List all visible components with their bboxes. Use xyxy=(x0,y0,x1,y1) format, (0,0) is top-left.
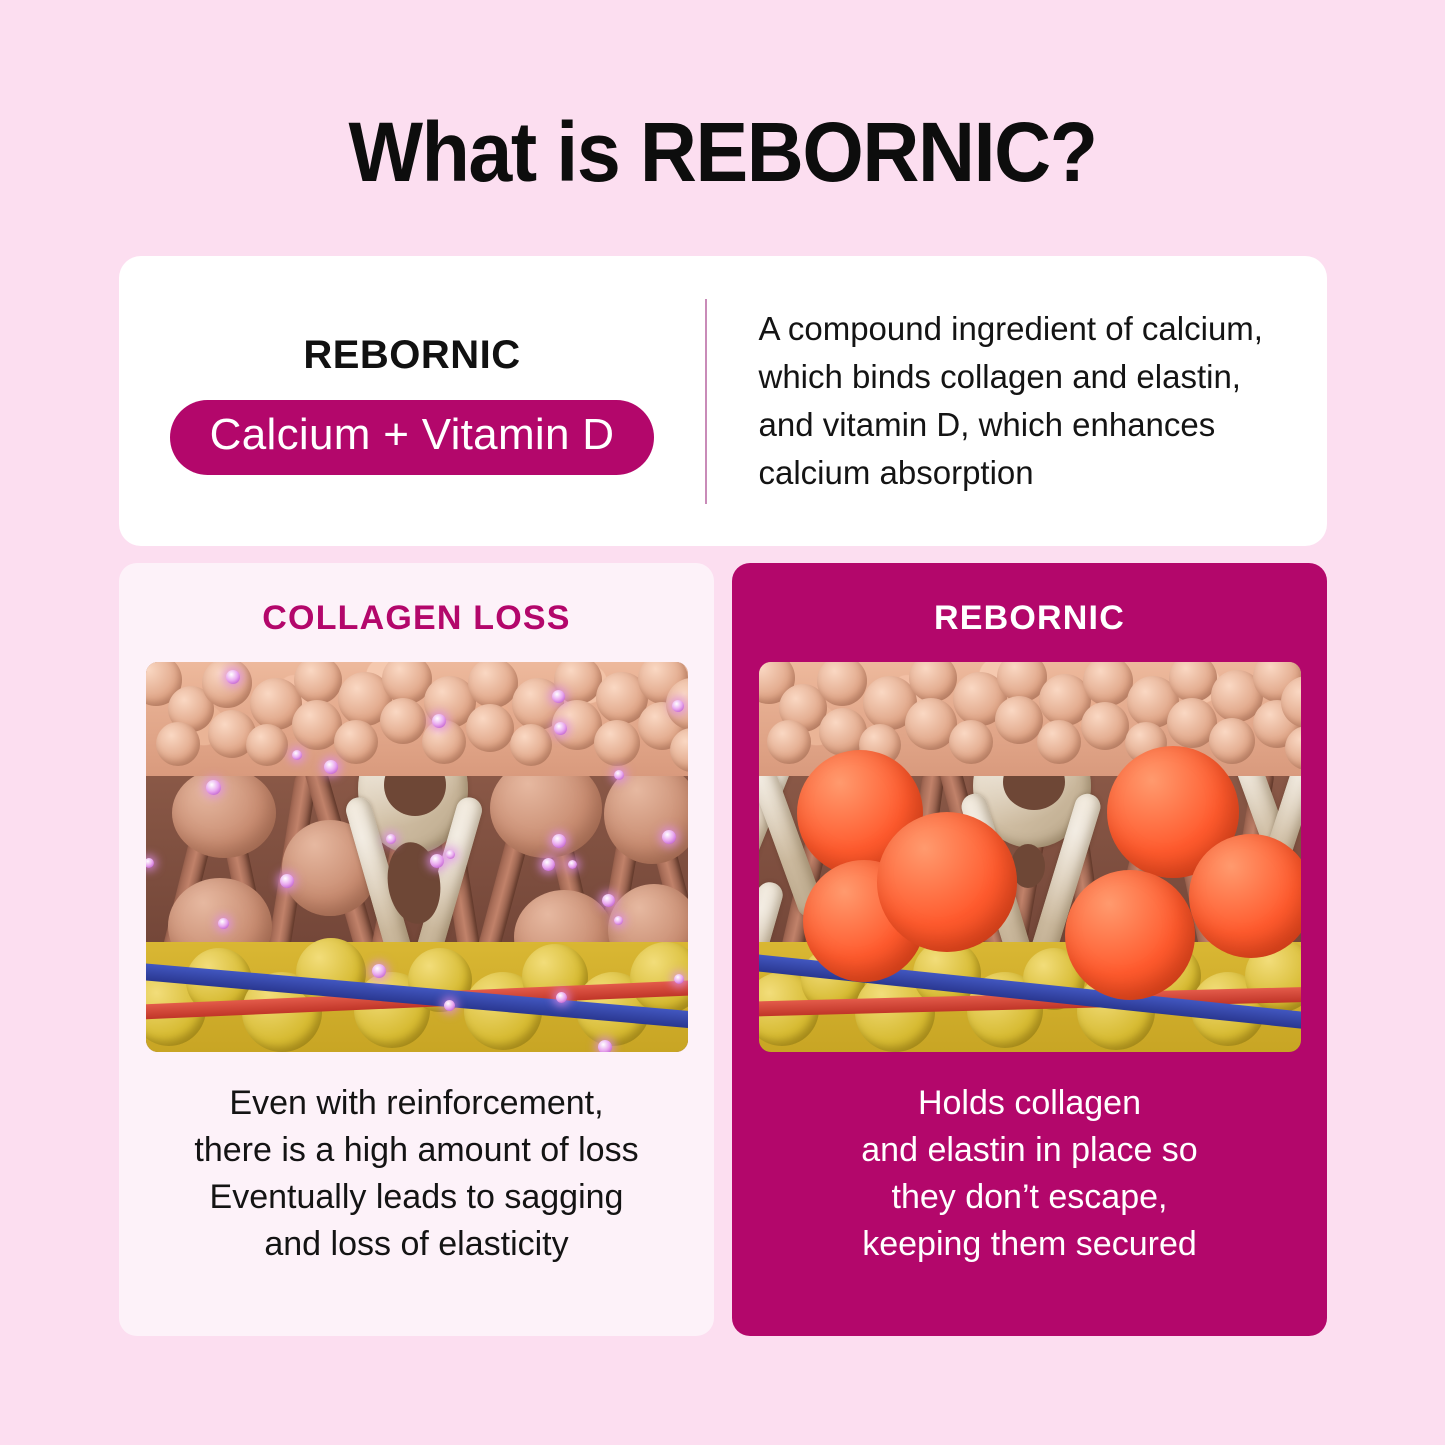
glow-particle xyxy=(444,1000,455,1011)
panel-collagen-loss-heading: COLLAGEN LOSS xyxy=(262,599,570,638)
glow-particle xyxy=(292,750,302,760)
glow-particle xyxy=(430,854,444,868)
info-card-brand-block: REBORNIC Calcium + Vitamin D xyxy=(119,256,705,546)
panel-rebornic: REBORNIC xyxy=(732,563,1327,1336)
glow-particle xyxy=(324,760,338,774)
glow-particle xyxy=(556,992,567,1003)
glow-particle xyxy=(598,1040,612,1052)
glow-particle xyxy=(602,894,615,907)
panel-collagen-loss: COLLAGEN LOSS xyxy=(119,563,714,1336)
infographic-page: What is REBORNIC? REBORNIC Calcium + Vit… xyxy=(0,0,1445,1445)
glow-particle xyxy=(218,918,229,929)
glow-particle xyxy=(614,916,623,925)
info-card-description-block: A compound ingredient of calcium, which … xyxy=(707,256,1328,546)
panel-collagen-loss-caption: Even with reinforcement, there is a high… xyxy=(194,1080,638,1268)
glow-particle xyxy=(552,834,566,848)
panel-rebornic-caption: Holds collagen and elastin in place so t… xyxy=(861,1080,1197,1268)
glow-particle xyxy=(226,670,240,684)
page-title: What is REBORNIC? xyxy=(43,108,1401,196)
glow-particle xyxy=(386,834,396,844)
brand-description: A compound ingredient of calcium, which … xyxy=(759,305,1298,496)
rebornic-compound-sphere xyxy=(877,812,1017,952)
info-card: REBORNIC Calcium + Vitamin D A compound … xyxy=(119,256,1327,546)
skin-cross-section-rebornic-image xyxy=(759,662,1301,1052)
panel-rebornic-heading: REBORNIC xyxy=(934,599,1125,638)
glow-particle xyxy=(552,690,565,703)
glow-particle xyxy=(542,858,555,871)
brand-name: REBORNIC xyxy=(303,333,520,378)
glow-particle xyxy=(662,830,676,844)
glow-particle xyxy=(146,858,154,868)
glow-particle xyxy=(280,874,294,888)
glow-particle xyxy=(554,722,567,735)
glow-particle xyxy=(432,714,446,728)
glow-particle xyxy=(674,974,684,984)
glow-particle xyxy=(446,850,455,859)
skin-cross-section-collagen-loss-image xyxy=(146,662,688,1052)
rebornic-compound-sphere xyxy=(1065,870,1195,1000)
brand-ingredients-badge: Calcium + Vitamin D xyxy=(170,400,655,475)
comparison-row: COLLAGEN LOSS xyxy=(119,563,1327,1336)
glow-particle xyxy=(206,780,221,795)
glow-particle xyxy=(568,860,577,869)
glow-particle xyxy=(372,964,386,978)
glow-particle xyxy=(672,700,684,712)
glow-particle xyxy=(614,770,624,780)
epidermis-cells xyxy=(146,662,688,812)
